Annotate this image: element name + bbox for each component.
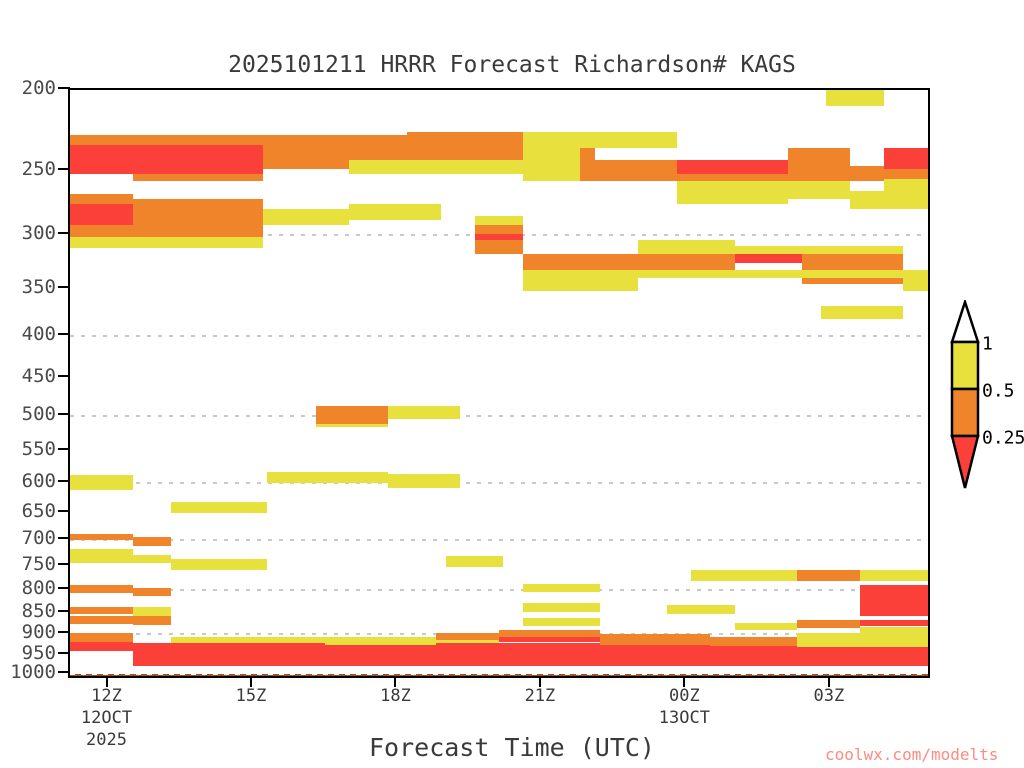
heatmap-cell (475, 240, 523, 254)
heatmap-cell (475, 225, 523, 234)
x-tick-label-18Z: 18Z (380, 686, 411, 706)
heatmap-cell (133, 537, 172, 540)
heatmap-cell (70, 225, 133, 237)
heatmap-cell (133, 616, 172, 625)
y-tick-mark-600 (58, 480, 70, 482)
heatmap-cell (797, 570, 860, 582)
heatmap-cell (133, 643, 930, 665)
heatmap-cell (797, 633, 930, 641)
gridline-500 (70, 415, 928, 417)
y-tick-label-250: 250 (22, 158, 56, 180)
heatmap-cell (133, 540, 172, 546)
heatmap-cell (70, 145, 263, 173)
colorbar-red-arrow (952, 436, 978, 488)
y-tick-label-700: 700 (22, 527, 56, 549)
heatmap-cell (475, 234, 523, 241)
heatmap-cell (884, 148, 930, 169)
heatmap-cell (580, 132, 676, 148)
heatmap-cell (788, 181, 851, 199)
heatmap-cell (860, 599, 930, 615)
y-tick-mark-900 (58, 631, 70, 633)
gridline-400 (70, 335, 928, 337)
x-tick-label-12Z: 12Z (91, 686, 122, 706)
heatmap-cell (903, 270, 930, 291)
x-tick-label-21Z: 21Z (525, 686, 556, 706)
heatmap-cell (70, 135, 407, 145)
y-tick-label-650: 650 (22, 500, 56, 522)
heatmap-cell (667, 605, 734, 614)
heatmap-cell (821, 306, 903, 319)
heatmap-cell (70, 204, 133, 224)
y-tick-mark-950 (58, 652, 70, 654)
meteogram-page: 2025101211 HRRR Forecast Richardson# KAG… (0, 0, 1024, 768)
heatmap-cell (325, 641, 436, 645)
heatmap-cell (70, 237, 263, 248)
heatmap-cell (70, 616, 133, 624)
y-tick-label-1000: 1000 (10, 661, 56, 683)
heatmap-cell (407, 145, 523, 160)
heatmap-cell (735, 246, 802, 255)
heatmap-cell (826, 90, 884, 106)
heatmap-cell (677, 174, 788, 182)
heatmap-cell (788, 166, 884, 181)
heatmap-cell (523, 148, 581, 181)
heatmap-cell (133, 555, 172, 564)
heatmap-cell (735, 254, 802, 263)
gridline-700 (70, 539, 928, 541)
heatmap-cell (638, 254, 734, 269)
heatmap-cell (133, 174, 263, 182)
y-tick-label-200: 200 (22, 77, 56, 99)
heatmap-cell (523, 132, 581, 148)
y-tick-mark-850 (58, 610, 70, 612)
heatmap-cell (638, 270, 734, 279)
heatmap-cell (446, 556, 504, 567)
heatmap-cell (580, 160, 676, 182)
watermark: coolwx.com/modelts (825, 745, 998, 764)
heatmap-cell (388, 474, 460, 488)
heatmap-cell (677, 181, 788, 204)
legend-tick-0.5: 0.5 (982, 381, 1015, 402)
heatmap-cell (349, 145, 407, 160)
y-axis: 2002503003504004505005506006507007508008… (0, 0, 56, 768)
y-tick-mark-1000 (58, 671, 70, 673)
heatmap-cell (171, 502, 267, 513)
heatmap-cell (171, 559, 267, 570)
heatmap-cell (316, 406, 388, 424)
y-tick-label-550: 550 (22, 438, 56, 460)
heatmap-cell (860, 620, 930, 626)
heatmap-cell (523, 270, 639, 291)
y-tick-mark-650 (58, 510, 70, 512)
heatmap-cell (316, 424, 388, 428)
heatmap-cell (499, 630, 600, 638)
y-tick-label-450: 450 (22, 365, 56, 387)
heatmap-cell (436, 633, 499, 640)
heatmap-cell (70, 194, 133, 204)
y-tick-mark-300 (58, 232, 70, 234)
x-tick-label-03Z: 03Z (814, 686, 845, 706)
colorbar-yellow (952, 342, 978, 389)
heatmap-cell (788, 148, 851, 166)
heatmap-cell (133, 588, 172, 596)
y-tick-label-750: 750 (22, 553, 56, 575)
heatmap-cell (735, 623, 798, 630)
y-tick-mark-500 (58, 413, 70, 415)
heatmap-cell (70, 642, 133, 650)
heatmap-cell (133, 199, 263, 237)
gridline-600 (70, 482, 928, 484)
gridline-800 (70, 589, 928, 591)
y-tick-label-400: 400 (22, 323, 56, 345)
legend-colorbar: 1 0.5 0.25 (942, 300, 1024, 490)
plot-area (68, 88, 930, 678)
y-tick-mark-200 (58, 87, 70, 89)
page-title: 2025101211 HRRR Forecast Richardson# KAG… (0, 52, 1024, 78)
heatmap-cell (523, 603, 600, 612)
x-tick-date-00Z: 13OCT (659, 708, 710, 728)
heatmap-cell (70, 607, 133, 614)
y-tick-mark-700 (58, 537, 70, 539)
heatmap-cell (267, 472, 387, 483)
heatmap-cell (884, 169, 930, 178)
y-tick-label-350: 350 (22, 276, 56, 298)
heatmap-cell (677, 160, 788, 174)
heatmap-cell (475, 216, 523, 225)
y-tick-label-600: 600 (22, 470, 56, 492)
surface-line (70, 673, 928, 675)
y-tick-mark-750 (58, 563, 70, 565)
heatmap-cell (802, 246, 903, 255)
y-tick-mark-550 (58, 448, 70, 450)
colorbar-orange (952, 389, 978, 436)
y-tick-label-500: 500 (22, 403, 56, 425)
heatmap-cell (70, 534, 133, 540)
y-tick-label-300: 300 (22, 222, 56, 244)
y-tick-label-800: 800 (22, 577, 56, 599)
legend-tick-0.25: 0.25 (982, 428, 1024, 449)
heatmap-cell (349, 204, 440, 219)
heatmap-cell (263, 145, 350, 169)
y-tick-mark-800 (58, 587, 70, 589)
x-tick-label-00Z: 00Z (669, 686, 700, 706)
heatmap-cell (600, 641, 711, 645)
y-tick-mark-400 (58, 333, 70, 335)
x-tick-date-12Z: 12OCT (81, 708, 132, 728)
heatmap-cell (735, 270, 904, 279)
heatmap-cell (797, 620, 860, 628)
heatmap-cell (499, 637, 600, 641)
heatmap-cell (388, 406, 460, 419)
heatmap-cell (638, 240, 734, 254)
heatmap-cell (860, 570, 930, 582)
y-tick-mark-250 (58, 168, 70, 170)
heatmap-cell (349, 160, 522, 174)
y-tick-label-900: 900 (22, 621, 56, 643)
heatmap-cell (70, 475, 133, 490)
heatmap-cell (884, 179, 930, 192)
heatmap-cell (850, 191, 930, 209)
heatmap-cell (860, 585, 930, 599)
heatmap-cell (70, 633, 133, 642)
heatmap-cell (263, 209, 350, 224)
heatmap-canvas (70, 90, 928, 676)
y-tick-label-850: 850 (22, 600, 56, 622)
heatmap-cell (70, 549, 133, 563)
legend-tick-1: 1 (982, 334, 993, 355)
heatmap-cell (70, 585, 133, 593)
heatmap-cell (523, 618, 600, 626)
y-tick-mark-450 (58, 375, 70, 377)
heatmap-cell (797, 642, 930, 647)
y-tick-mark-350 (58, 286, 70, 288)
heatmap-cell (710, 642, 797, 646)
heatmap-cell (523, 254, 639, 269)
heatmap-cell (133, 607, 172, 616)
colorbar-over-arrow (952, 302, 978, 342)
heatmap-cell (691, 570, 797, 582)
heatmap-cell (600, 634, 711, 641)
x-tick-label-15Z: 15Z (236, 686, 267, 706)
heatmap-cell (523, 584, 600, 592)
